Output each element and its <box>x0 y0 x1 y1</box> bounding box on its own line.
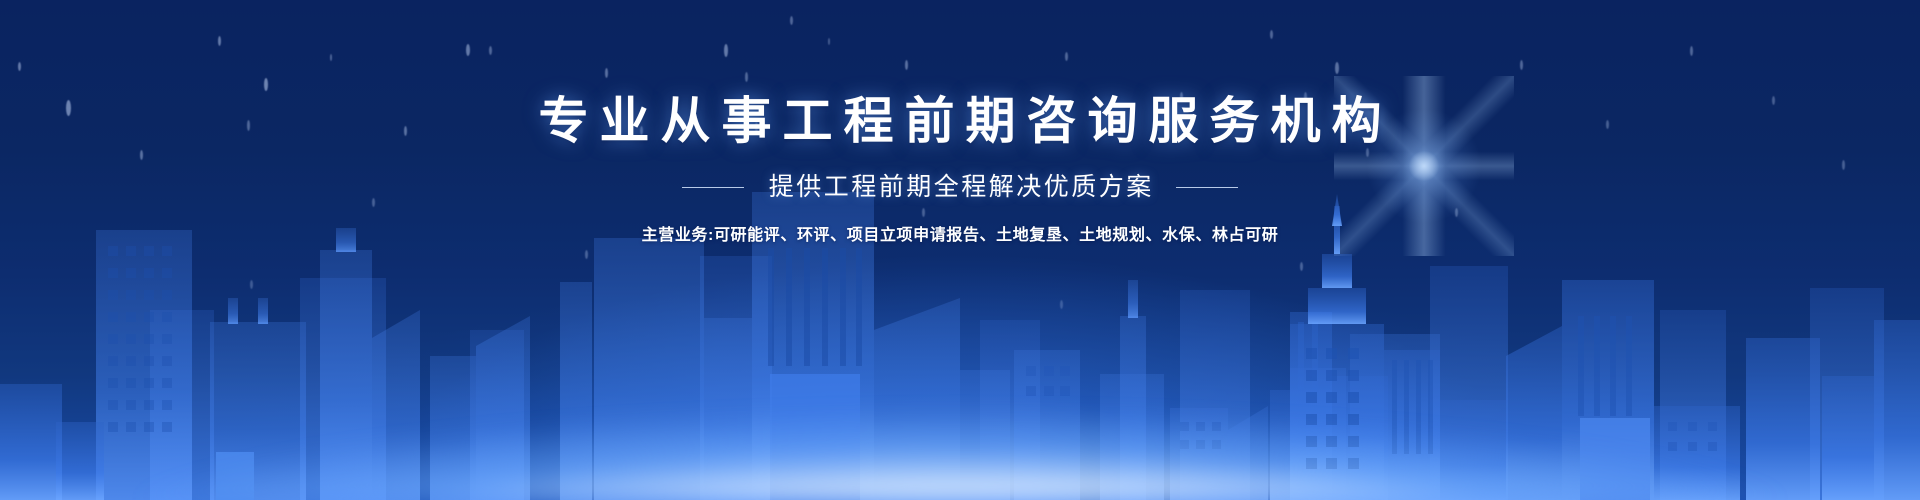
dash-left-icon <box>682 187 744 188</box>
banner-text-block: 专业从事工程前期咨询服务机构 提供工程前期全程解决优质方案 主营业务:可研能评、… <box>0 96 1920 244</box>
banner-subtitle-row: 提供工程前期全程解决优质方案 <box>682 175 1238 200</box>
banner-subtitle: 提供工程前期全程解决优质方案 <box>766 175 1154 200</box>
horizon-glow <box>0 310 1920 500</box>
banner-business-line: 主营业务:可研能评、环评、项目立项申请报告、土地复垦、土地规划、水保、林占可研 <box>642 228 1279 244</box>
banner-title: 专业从事工程前期咨询服务机构 <box>528 96 1393 146</box>
hero-banner: 专业从事工程前期咨询服务机构 提供工程前期全程解决优质方案 主营业务:可研能评、… <box>0 0 1920 500</box>
horizon-highlight <box>0 350 1920 500</box>
dash-right-icon <box>1176 187 1238 188</box>
star-particles <box>0 0 1920 500</box>
